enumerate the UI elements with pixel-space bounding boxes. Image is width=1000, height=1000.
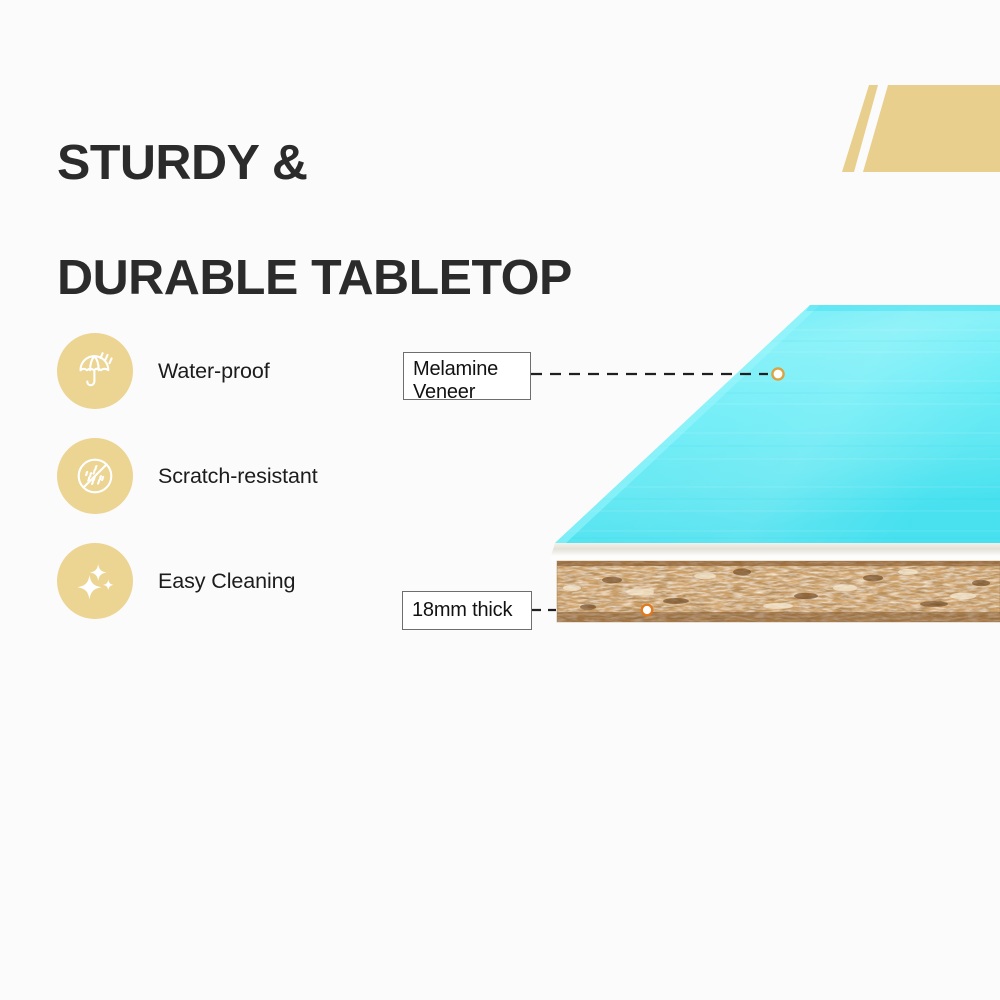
gold-angled-stripes (820, 0, 1000, 220)
callout-melamine-veneer: Melamine Veneer (403, 352, 531, 400)
page-title: STURDY & DURABLE TABLETOP (57, 78, 669, 365)
sparkles-icon (72, 558, 118, 604)
no-scratch-icon (72, 453, 118, 499)
feature-item-easy-cleaning: Easy Cleaning (57, 543, 417, 619)
title-line-1: STURDY & (57, 135, 669, 192)
infographic-canvas: STURDY & DURABLE TABLETOP Wat (0, 0, 1000, 1000)
leader-marker-thickness (642, 605, 653, 616)
callout-thickness: 18mm thick (402, 591, 532, 630)
leader-marker-veneer (772, 368, 783, 379)
feature-item-water-proof: Water-proof (57, 333, 417, 409)
title-line-2: DURABLE TABLETOP (57, 250, 669, 307)
feature-item-scratch-resistant: Scratch-resistant (57, 438, 417, 514)
feature-badge-easy-cleaning (57, 543, 133, 619)
umbrella-rain-icon (72, 348, 118, 394)
feature-label-scratch-resistant: Scratch-resistant (158, 464, 318, 489)
feature-label-easy-cleaning: Easy Cleaning (158, 569, 295, 594)
feature-badge-scratch-resistant (57, 438, 133, 514)
feature-badge-water-proof (57, 333, 133, 409)
feature-label-water-proof: Water-proof (158, 359, 270, 384)
feature-list: Water-proof Scratch-resis (57, 333, 417, 648)
